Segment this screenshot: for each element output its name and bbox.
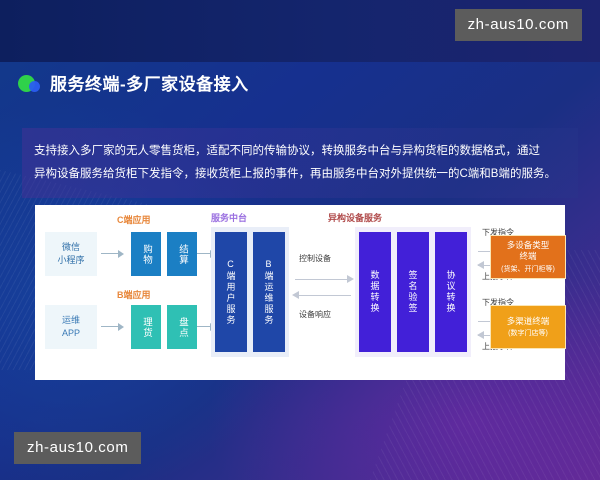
page-title: 服务终端-多厂家设备接入 [50, 70, 249, 95]
watermark-top: zh-aus10.com [455, 9, 582, 41]
arrow-head-left-icon [477, 331, 484, 339]
source-wechat-line1: 微信 [62, 241, 80, 254]
c-app-box-shopping: 购物 [131, 232, 161, 276]
hetero-col-data-conversion: 数据转换 [359, 232, 391, 352]
slide-header: 服务终端-多厂家设备接入 [0, 70, 600, 95]
hetero-col-signature-verify: 签名验签 [397, 232, 429, 352]
description-panel: 支持接入多厂家的无人零售货柜，适配不同的传输协议，转换服务中台与异构货柜的数据格… [22, 128, 578, 198]
label-b-apps: B端应用 [117, 288, 151, 301]
label-service-platform: 服务中台 [211, 211, 247, 224]
description-line-2: 异构设备服务给货柜下发指令，接收货柜上报的事件，再由服务中台对外提供统一的C端和… [34, 163, 566, 186]
c-app-box-settlement: 结算 [167, 232, 197, 276]
terminal-multi-channel: 多渠道终端 (数字门店等) [490, 305, 566, 349]
label-c-apps: C端应用 [117, 213, 151, 226]
source-app-line1: 运维 [62, 314, 80, 327]
hetero-device-service-group: 数据转换 签名验签 协议转换 [355, 227, 471, 357]
arrow-label-device-response: 设备响应 [299, 309, 331, 320]
source-app-line2: APP [62, 327, 80, 340]
description-line-1: 支持接入多厂家的无人零售货柜，适配不同的传输协议，转换服务中台与异构货柜的数据格… [34, 140, 566, 163]
terminal1-subtitle: (货架、开门柜等) [501, 265, 555, 274]
terminal2-subtitle: (数字门店等) [508, 329, 548, 338]
hetero-col-protocol-conversion: 协议转换 [435, 232, 467, 352]
terminal1-main-line2: 终端 [519, 251, 536, 262]
blue-dot-icon [29, 81, 40, 92]
arrow-head-left-icon [292, 291, 299, 299]
source-wechat-line2: 小程序 [57, 254, 84, 267]
arrow-head-right-icon [347, 275, 354, 283]
label-hetero-device-service: 异构设备服务 [328, 211, 382, 224]
arrow-line-icon [295, 279, 351, 280]
b-app-box-inventory: 盘点 [167, 305, 197, 349]
arrow-head-left-icon [477, 261, 484, 269]
architecture-diagram: C端应用 B端应用 服务中台 异构设备服务 微信 小程序 运维 APP 购物 结… [35, 205, 565, 380]
platform-col-c-user-service: C端用户服务 [215, 232, 247, 352]
arrow-right-icon [101, 322, 127, 332]
terminal1-main-line1: 多设备类型 [507, 240, 550, 251]
terminal2-main: 多渠道终端 [507, 316, 550, 327]
platform-hetero-arrows: 控制设备 设备响应 [293, 237, 353, 343]
platform-col-b-ops-service: B端运维服务 [253, 232, 285, 352]
service-platform-group: C端用户服务 B端运维服务 [211, 227, 289, 357]
header-bullet [18, 72, 44, 94]
arrow-label-control-device: 控制设备 [299, 253, 331, 264]
watermark-bottom: zh-aus10.com [14, 432, 141, 464]
arrow-right-icon [101, 249, 127, 259]
source-ops-app: 运维 APP [45, 305, 97, 349]
source-wechat-miniprogram: 微信 小程序 [45, 232, 97, 276]
arrow-line-icon [295, 295, 351, 296]
terminal-multi-device-type: 多设备类型 终端 (货架、开门柜等) [490, 235, 566, 279]
b-app-box-stocking: 理货 [131, 305, 161, 349]
